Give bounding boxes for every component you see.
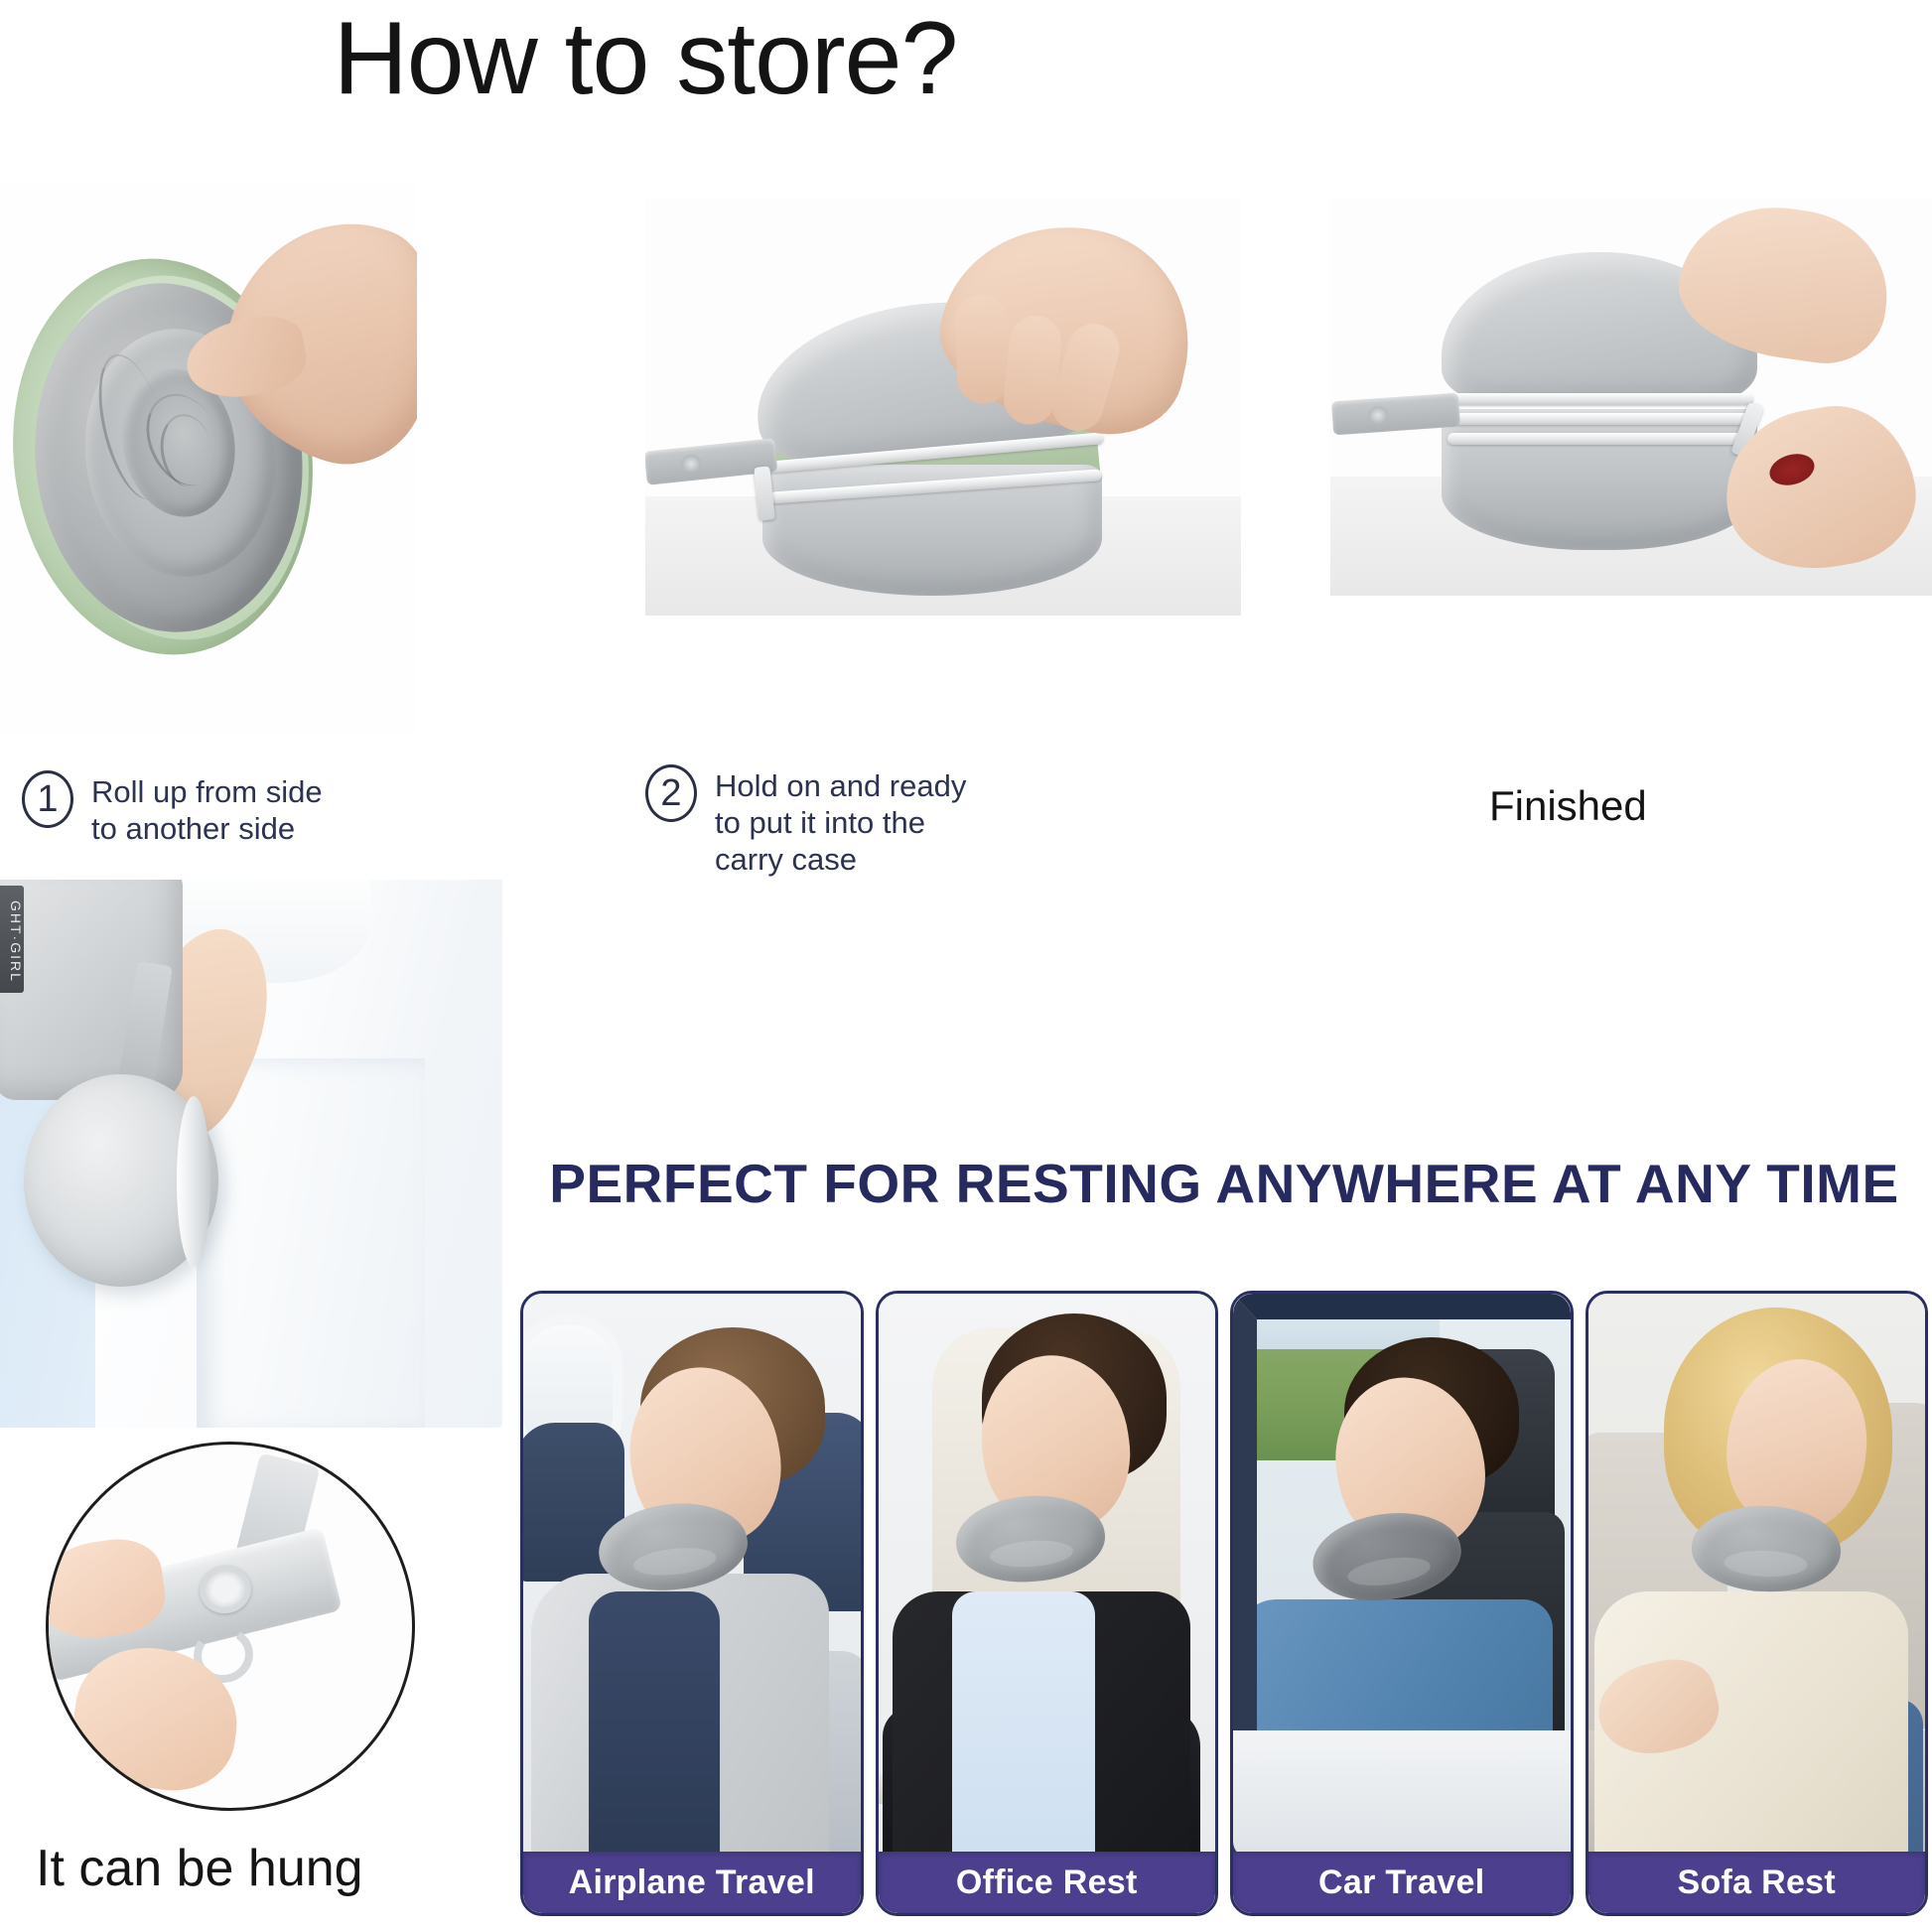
- panel-caption: Airplane Travel: [523, 1852, 861, 1913]
- scene-office: [879, 1294, 1216, 1913]
- panel-caption: Sofa Rest: [1588, 1852, 1926, 1913]
- zipper-track: [1446, 393, 1753, 405]
- step-2: 2 Hold on and ready to put it into the c…: [645, 764, 1072, 879]
- use-case-panel-sofa-rest: Sofa Rest: [1586, 1291, 1929, 1916]
- strap-snap-button: [1367, 406, 1388, 425]
- finished-label: Finished: [1489, 782, 1647, 830]
- zipper-track: [1448, 433, 1751, 445]
- photo-case-hung-on-bag: GHT·GIRL: [0, 880, 502, 1428]
- photo-closed-case: [1330, 199, 1932, 596]
- scene-sofa: [1588, 1294, 1926, 1913]
- car-door-panel: [1233, 1730, 1571, 1858]
- step-description: Roll up from side to another side: [91, 770, 323, 847]
- navy-shirt: [589, 1591, 720, 1869]
- use-case-panel-airplane-travel: Airplane Travel: [520, 1291, 864, 1916]
- carry-case-hanging: [24, 1074, 218, 1287]
- strap-snap-button: [680, 454, 702, 474]
- white-trousers: [197, 1058, 425, 1428]
- step-1: 1 Roll up from side to another side: [22, 770, 439, 847]
- blue-blouse: [952, 1591, 1095, 1879]
- use-case-panel-group: Airplane Travel Office Rest: [520, 1291, 1928, 1916]
- panel-caption: Office Rest: [879, 1852, 1216, 1913]
- photo-hook-detail-circle: [46, 1442, 415, 1811]
- section-headline: PERFECT FOR RESTING ANYWHERE AT ANY TIME: [516, 1152, 1932, 1215]
- carry-case-base: [1442, 409, 1757, 550]
- finger: [954, 294, 1010, 405]
- photo-rolled-pillow: [0, 184, 417, 735]
- zipper-track: [1446, 413, 1753, 425]
- step-number-badge: 1: [22, 770, 73, 828]
- use-case-panel-car-travel: Car Travel: [1230, 1291, 1574, 1916]
- hook-caption: It can be hung: [36, 1839, 363, 1898]
- panel-caption: Car Travel: [1233, 1852, 1571, 1913]
- scene-car: [1233, 1294, 1571, 1913]
- infographic-page: How to store?: [0, 0, 1932, 1932]
- zipper-track: [177, 1096, 210, 1267]
- scene-airplane: [523, 1294, 861, 1913]
- step-description: Hold on and ready to put it into the car…: [715, 764, 966, 879]
- use-case-panel-office-rest: Office Rest: [876, 1291, 1219, 1916]
- bag-brand-tag: GHT·GIRL: [0, 886, 24, 993]
- photo-pressing-case-lid: [645, 199, 1241, 616]
- page-title: How to store?: [0, 2, 1291, 115]
- step-number-badge: 2: [645, 764, 697, 822]
